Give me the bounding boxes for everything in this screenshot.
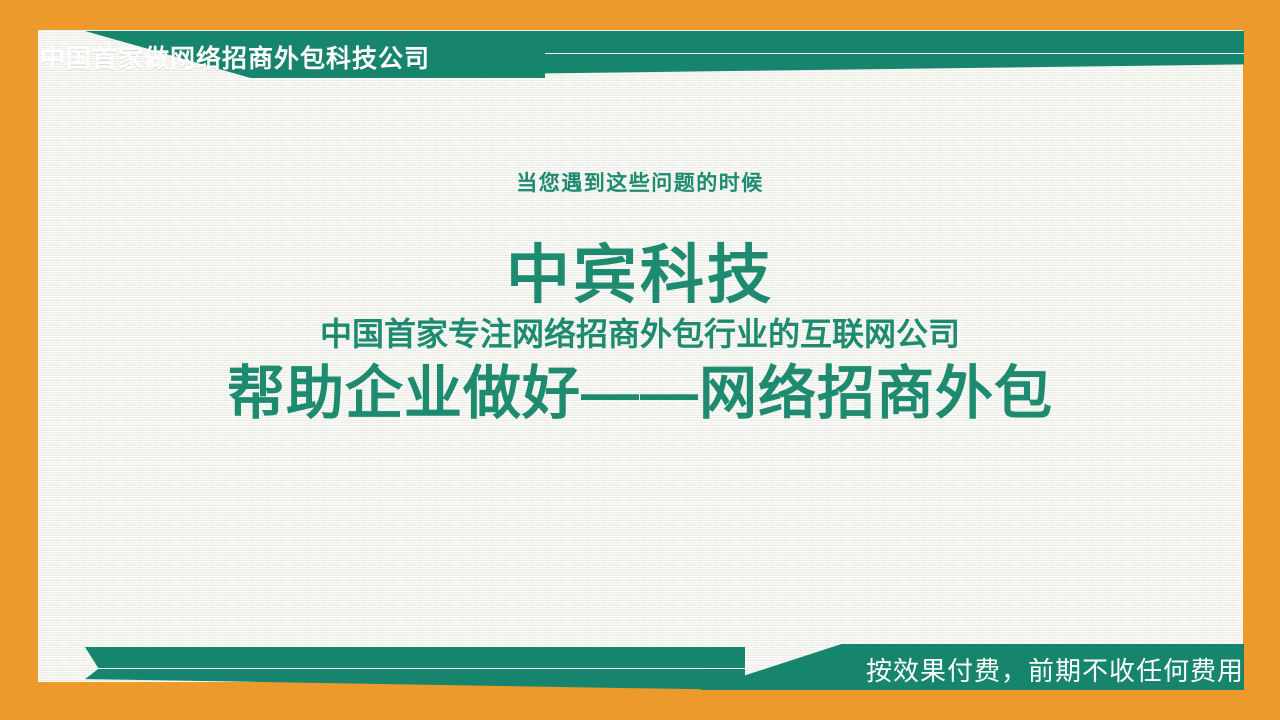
main-headline: 帮助企业做好——网络招商外包 [0,362,1280,426]
presentation-slide: 中国首家做网络招商外包科技公司 当您遇到这些问题的时候 中宾科技 中国首家专注网… [0,0,1280,720]
brand-subtitle: 中国首家专注网络招商外包行业的互联网公司 [0,318,1280,350]
brand-title: 中宾科技 [0,243,1280,307]
kicker-text: 当您遇到这些问题的时候 [0,167,1280,197]
slide-content-area [38,30,1243,682]
